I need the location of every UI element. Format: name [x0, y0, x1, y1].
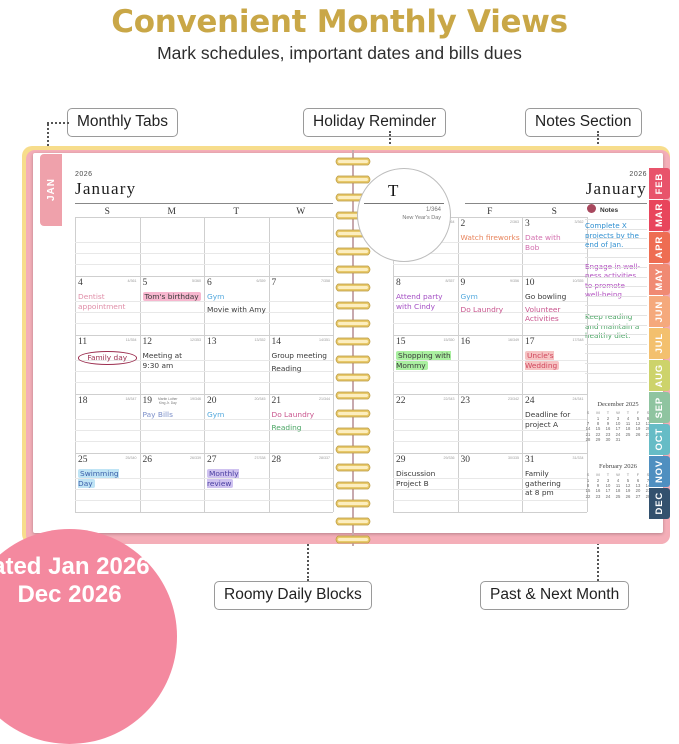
notes-rule [585, 219, 647, 220]
mini-day [583, 499, 593, 504]
callout-notes-section: Notes Section [525, 108, 642, 137]
notes-rule [585, 353, 647, 354]
left-writingline [75, 323, 333, 324]
day-event: Meeting at 9:30 am [143, 351, 203, 370]
month-tab-label: JUN [654, 301, 665, 322]
notes-rule [585, 334, 647, 335]
callout-past-next-month: Past & Next Month [480, 581, 629, 610]
left-writingline [75, 441, 333, 442]
mini-day: 28 [583, 437, 593, 442]
right-rowline-5 [393, 512, 587, 513]
day-number-28: 28 [272, 455, 282, 465]
mini-day: 30 [603, 437, 613, 442]
weekday-header-5: F [458, 207, 523, 217]
left-colline-2 [204, 217, 205, 512]
magnifier-holiday-name: New Year's Day [358, 215, 450, 221]
mini-calendar-table: SMTWTFS123456789101112131415161718192021… [583, 410, 653, 442]
dated-range-badge: Dated Jan 2026 - Dec 2026 [0, 529, 177, 744]
right-writingline [393, 264, 587, 265]
day-number-23: 23 [461, 396, 471, 406]
left-writingline [75, 382, 333, 383]
left-rowline-5 [75, 512, 333, 513]
page-month-right: January [553, 179, 647, 199]
day-fraction-2: 2/363 [498, 220, 519, 224]
month-tab-label: NOV [654, 460, 665, 483]
day-event: Volunteer Activities [525, 305, 585, 324]
month-tab-jul[interactable]: JUL [649, 328, 670, 359]
month-tab-oct[interactable]: OCT [649, 424, 670, 455]
mini-day [623, 499, 633, 504]
month-tab-may[interactable]: MAY [649, 264, 670, 295]
day-fraction-31: 31/334 [563, 456, 584, 460]
page-year-right: 2026 [585, 171, 647, 178]
month-tab-aug[interactable]: AUG [649, 360, 670, 391]
month-tab-apr[interactable]: APR [649, 232, 670, 263]
spiral-ring [332, 424, 374, 435]
day-event: Uncle's Wedding [525, 351, 585, 370]
day-number-29: 29 [396, 455, 406, 465]
day-number-22: 22 [396, 396, 406, 406]
mini-day [633, 437, 643, 442]
day-fraction-3: 3/362 [563, 220, 584, 224]
day-fraction-20: 20/345 [245, 397, 266, 401]
page-month-left: January [75, 179, 136, 199]
day-number-27: 27 [207, 455, 217, 465]
spiral-ring [332, 514, 374, 525]
page-year-left: 2026 [75, 171, 93, 178]
day-number-14: 14 [272, 337, 282, 347]
mini-day: 31 [613, 437, 623, 442]
notes-rule [585, 286, 647, 287]
month-tab-nov[interactable]: NOV [649, 456, 670, 487]
spiral-ring [332, 370, 374, 381]
notes-rule [585, 229, 647, 230]
magnifier-weekday: T [388, 181, 398, 201]
day-event: Monthly review [207, 469, 267, 488]
mini-week-row: 28293031 [583, 437, 653, 442]
day-number-4: 4 [78, 278, 83, 288]
spiral-ring [332, 262, 374, 273]
month-tabs-strip[interactable]: FEBMARAPRMAYJUNJULAUGSEPOCTNOVDEC [649, 168, 670, 520]
day-event-highlight: Tom's birthday [143, 292, 201, 301]
notes-rule [585, 373, 647, 374]
day-event: Reading [272, 364, 332, 374]
right-colline-1 [458, 217, 459, 512]
right-writingline [393, 500, 587, 501]
day-fraction-21: 21/344 [309, 397, 330, 401]
day-number-30: 30 [461, 455, 471, 465]
day-event: Discussion Project B [396, 469, 456, 488]
day-event: Watch fireworks [461, 233, 521, 243]
right-rowline-4 [393, 453, 587, 454]
magnifier-day-fraction: 1/364 [358, 207, 450, 213]
holiday-magnifier: T 1/364 New Year's Day [357, 168, 451, 262]
day-fraction-14: 14/351 [309, 338, 330, 342]
mini-calendar-title: February 2026 [583, 463, 653, 470]
notes-rule [585, 344, 647, 345]
notes-rule [585, 315, 647, 316]
month-tab-mar[interactable]: MAR [649, 200, 670, 231]
day-fraction-29: 29/336 [434, 456, 455, 460]
day-event: Dentist appointment [78, 292, 138, 311]
spiral-ring [332, 316, 374, 327]
day-number-11: 11 [78, 337, 87, 347]
day-number-16: 16 [461, 337, 471, 347]
day-fraction-19: 19/346 [180, 397, 201, 401]
day-number-10: 10 [525, 278, 535, 288]
day-fraction-8: 8/357 [434, 279, 455, 283]
day-number-25: 25 [78, 455, 88, 465]
day-number-5: 5 [143, 278, 148, 288]
weekday-header-3: W [269, 207, 334, 217]
day-fraction-25: 25/340 [116, 456, 137, 460]
day-number-24: 24 [525, 396, 535, 406]
right-rowline-2 [393, 335, 587, 336]
day-event-highlight: Monthly review [207, 469, 239, 488]
notes-rule [585, 257, 647, 258]
day-number-18: 18 [78, 396, 88, 406]
day-fraction-16: 16/349 [498, 338, 519, 342]
day-number-17: 17 [525, 337, 535, 347]
day-event: Attend party with Cindy [396, 292, 456, 311]
day-fraction-4: 4/361 [116, 279, 137, 283]
day-number-7: 7 [272, 278, 277, 288]
month-tab-dec[interactable]: DEC [649, 488, 670, 519]
spiral-ring [332, 478, 374, 489]
magnifier-rule [364, 203, 444, 204]
day-number-15: 15 [396, 337, 406, 347]
day-fraction-26: 26/339 [180, 456, 201, 460]
notes-rule [585, 382, 647, 383]
notes-entry: Keep reading and maintain a healthy diet… [585, 312, 647, 341]
callout-monthly-tabs: Monthly Tabs [67, 108, 178, 137]
day-fraction-27: 27/338 [245, 456, 266, 460]
day-number-31: 31 [525, 455, 535, 465]
left-colline-3 [269, 217, 270, 512]
leader-line-monthly-tabs-horizontal [47, 122, 69, 124]
spiral-ring [332, 460, 374, 471]
notes-rule [585, 267, 647, 268]
day-event: Do Laundry [461, 305, 521, 315]
right-writingline [393, 430, 587, 431]
left-writingline [75, 253, 333, 254]
day-number-12: 12 [143, 337, 153, 347]
month-tab-label: MAY [654, 268, 665, 291]
notes-rule [585, 325, 647, 326]
spiral-ring [332, 298, 374, 309]
mini-day [623, 437, 633, 442]
notes-header: Notes [600, 207, 618, 214]
day-number-2: 2 [461, 219, 466, 229]
weekday-header-1: M [140, 207, 205, 217]
mini-calendar-table: SMTWTFS123456789101112131415161718192021… [583, 472, 653, 504]
mini-calendar-title: December 2025 [583, 401, 653, 408]
day-number-6: 6 [207, 278, 212, 288]
day-number-13: 13 [207, 337, 217, 347]
left-writingline [75, 312, 333, 313]
day-fraction-6: 6/359 [245, 279, 266, 283]
day-event: Family day [78, 351, 137, 365]
day-number-9: 9 [461, 278, 466, 288]
left-colline-0 [75, 217, 76, 512]
day-number-8: 8 [396, 278, 401, 288]
notes-rule [585, 238, 647, 239]
day-event: Swimming Day [78, 469, 138, 488]
day-event: Do Laundry [272, 410, 332, 420]
month-tab-label: FEB [654, 173, 665, 194]
day-event: Family gathering at 8 pm [525, 469, 585, 498]
right-rowline-3 [393, 394, 587, 395]
spiral-ring [332, 352, 374, 363]
weekday-header-0: S [75, 207, 140, 217]
mini-week-row [583, 499, 653, 504]
right-colline-2 [522, 217, 523, 512]
mini-day [613, 499, 623, 504]
day-event: Date with Bob [525, 233, 585, 252]
right-colline-0 [393, 217, 394, 512]
left-colline-1 [140, 217, 141, 512]
notes-entry: Complete X projects by the end of Jan. [585, 221, 647, 250]
month-tab-jun[interactable]: JUN [649, 296, 670, 327]
day-number-20: 20 [207, 396, 217, 406]
spiral-ring [332, 388, 374, 399]
day-number-19: 19 [143, 396, 153, 406]
day-event-highlight: Shopping with Mommy [396, 351, 451, 370]
callout-holiday-reminder: Holiday Reminder [303, 108, 446, 137]
day-event: Shopping with Mommy [396, 351, 456, 370]
notes-rule [585, 248, 647, 249]
header-rule-left [75, 203, 333, 204]
right-writingline [393, 371, 587, 372]
day-fraction-23: 23/342 [498, 397, 519, 401]
month-tab-label: SEP [654, 397, 665, 418]
day-event-highlight: Uncle's Wedding [525, 351, 559, 370]
day-event: Tom's birthday [143, 292, 203, 302]
weekday-header-2: T [204, 207, 269, 217]
spiral-ring [332, 442, 374, 453]
day-fraction-15: 15/350 [434, 338, 455, 342]
spiral-ring [332, 280, 374, 291]
jan-tab-label: JAN [46, 178, 57, 201]
day-event: Gym [207, 292, 267, 302]
mini-day [633, 499, 643, 504]
mini-calendar: December 2025SMTWTFS12345678910111213141… [583, 401, 653, 442]
day-number-26: 26 [143, 455, 153, 465]
day-number-21: 21 [272, 396, 282, 406]
spiral-ring [332, 532, 374, 543]
day-fraction-5: 5/360 [180, 279, 201, 283]
month-tab-label: JUL [654, 333, 665, 353]
notes-rule [585, 363, 647, 364]
sidebar-item-jan-tab[interactable]: JAN [40, 154, 62, 226]
day-fraction-12: 12/353 [180, 338, 201, 342]
notes-dot [587, 204, 596, 213]
day-number-3: 3 [525, 219, 530, 229]
mini-calendar: February 2026SMTWTFS12345678910111213141… [583, 463, 653, 504]
page-subtitle: Mark schedules, important dates and bill… [0, 43, 679, 64]
month-tab-feb[interactable]: FEB [649, 168, 670, 199]
day-event: Go bowling [525, 292, 585, 302]
day-event: Deadline for project A [525, 410, 585, 429]
day-fraction-7: 7/358 [309, 279, 330, 283]
day-fraction-13: 13/352 [245, 338, 266, 342]
month-tab-label: MAR [654, 203, 665, 227]
holiday-label-19: Martin Luther King Jr. Day [156, 397, 181, 405]
spiral-ring [332, 496, 374, 507]
day-fraction-17: 17/348 [563, 338, 584, 342]
spiral-ring [332, 154, 374, 165]
day-fraction-11: 11/354 [116, 338, 137, 342]
page-title: Convenient Monthly Views [0, 4, 679, 40]
spiral-ring [332, 334, 374, 345]
notes-rule [585, 296, 647, 297]
mini-day [593, 499, 603, 504]
day-event-highlight: Swimming Day [78, 469, 119, 488]
day-event: Group meeting [272, 351, 332, 361]
left-writingline [75, 242, 333, 243]
callout-roomy-daily-blocks: Roomy Daily Blocks [214, 581, 372, 610]
right-rowline-1 [393, 276, 587, 277]
month-tab-label: OCT [654, 428, 665, 450]
weekday-header-6: S [522, 207, 587, 217]
notes-rule [585, 305, 647, 306]
right-writingline [393, 441, 587, 442]
day-fraction-22: 22/343 [434, 397, 455, 401]
day-event: Reading [272, 423, 332, 433]
spiral-ring [332, 406, 374, 417]
right-writingline [393, 382, 587, 383]
month-tab-label: AUG [654, 364, 665, 388]
month-tab-label: DEC [654, 492, 665, 514]
day-fraction-18: 18/347 [116, 397, 137, 401]
left-writingline [75, 489, 333, 490]
day-event: Movie with Amy [207, 305, 267, 315]
header-rule-right [465, 203, 647, 204]
left-writingline [75, 500, 333, 501]
month-tab-sep[interactable]: SEP [649, 392, 670, 423]
day-fraction-30: 30/335 [498, 456, 519, 460]
mini-day: 29 [593, 437, 603, 442]
day-fraction-9: 9/356 [498, 279, 519, 283]
left-writingline [75, 264, 333, 265]
spiral-ring [332, 172, 374, 183]
day-event: Gym [207, 410, 267, 420]
day-fraction-24: 24/341 [563, 397, 584, 401]
day-fraction-28: 28/337 [309, 456, 330, 460]
month-tab-label: APR [654, 236, 665, 258]
day-event: Gym [461, 292, 521, 302]
notes-rule [585, 277, 647, 278]
day-fraction-10: 10/355 [563, 279, 584, 283]
day-event: Pay Bills [143, 410, 203, 420]
mini-day [603, 499, 613, 504]
